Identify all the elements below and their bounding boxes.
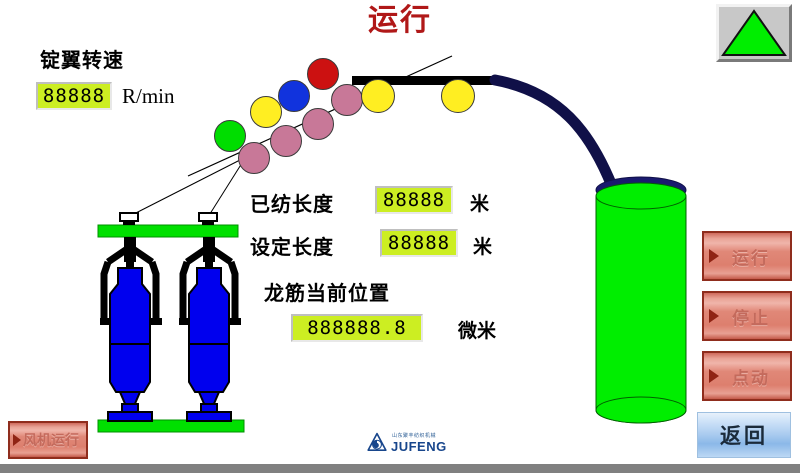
triangle-right-icon <box>709 369 719 383</box>
page-title: 运行 <box>330 0 470 42</box>
logo-en-text: JUFENG <box>391 440 447 453</box>
spun-length-unit: 米 <box>470 189 489 216</box>
roller-circle-yellow <box>250 96 282 128</box>
back-button[interactable]: 返回 <box>697 412 791 458</box>
set-length-label: 设定长度 <box>250 231 334 260</box>
run-button[interactable]: 运行 <box>702 231 792 281</box>
rail-position-unit: 微米 <box>458 316 496 343</box>
can-top-ring <box>596 177 686 203</box>
roller-circle-blue <box>278 80 310 112</box>
speed-label: 锭翼转速 <box>40 44 124 73</box>
rail-position-value[interactable]: 888888.8 <box>291 314 423 342</box>
set-length-unit: 米 <box>473 232 492 259</box>
roller-circle-yellow2 <box>361 79 395 113</box>
spun-length-value[interactable]: 88888 <box>375 186 453 214</box>
fan-run-button[interactable]: 风机运行 <box>8 421 88 459</box>
run-button-label: 运行 <box>732 244 770 269</box>
can-bottom-face <box>596 397 686 423</box>
upper-rail <box>98 225 238 237</box>
triangle-right-icon <box>13 434 21 446</box>
roller-circle-red <box>307 58 339 90</box>
roller-circle-pink3 <box>302 108 334 140</box>
yarn-thread-left <box>128 160 240 217</box>
up-arrow-button[interactable] <box>716 4 792 62</box>
can-top-face <box>596 183 686 209</box>
stop-button[interactable]: 停止 <box>702 291 792 341</box>
swirl-drop-icon <box>366 432 388 454</box>
bobbin-assembly-left <box>100 213 162 421</box>
company-logo: 山东聚丰纺织机械 JUFENG <box>366 432 447 454</box>
roller-circle-pink4 <box>331 84 363 116</box>
lower-rail <box>98 420 244 432</box>
triangle-right-icon <box>709 249 719 263</box>
speed-unit: R/min <box>122 84 175 109</box>
speed-value[interactable]: 88888 <box>36 82 112 110</box>
jog-button-label: 点动 <box>732 364 770 389</box>
fan-run-button-label: 风机运行 <box>23 430 79 450</box>
back-button-label: 返回 <box>720 420 768 450</box>
roller-circle-yellow3 <box>441 79 475 113</box>
rail-position-label: 龙筋当前位置 <box>264 277 390 306</box>
green-triangle-up-icon <box>719 7 789 59</box>
roller-circle-pink2 <box>270 125 302 157</box>
yarn-thread-right <box>208 163 242 217</box>
can-body <box>596 196 686 423</box>
bobbin-assembly-right <box>179 213 241 421</box>
stop-button-label: 停止 <box>732 304 770 329</box>
jog-button[interactable]: 点动 <box>702 351 792 401</box>
logo-cn-text: 山东聚丰纺织机械 <box>392 434 447 439</box>
roller-circle-pink1 <box>238 142 270 174</box>
sliver-path <box>495 80 612 186</box>
set-length-value[interactable]: 88888 <box>380 229 458 257</box>
hmi-screen: 运行 锭翼转速 88888 R/min 已纺长度 88888 米 设定长度 88… <box>0 0 800 473</box>
spun-length-label: 已纺长度 <box>250 188 334 217</box>
triangle-right-icon <box>709 309 719 323</box>
